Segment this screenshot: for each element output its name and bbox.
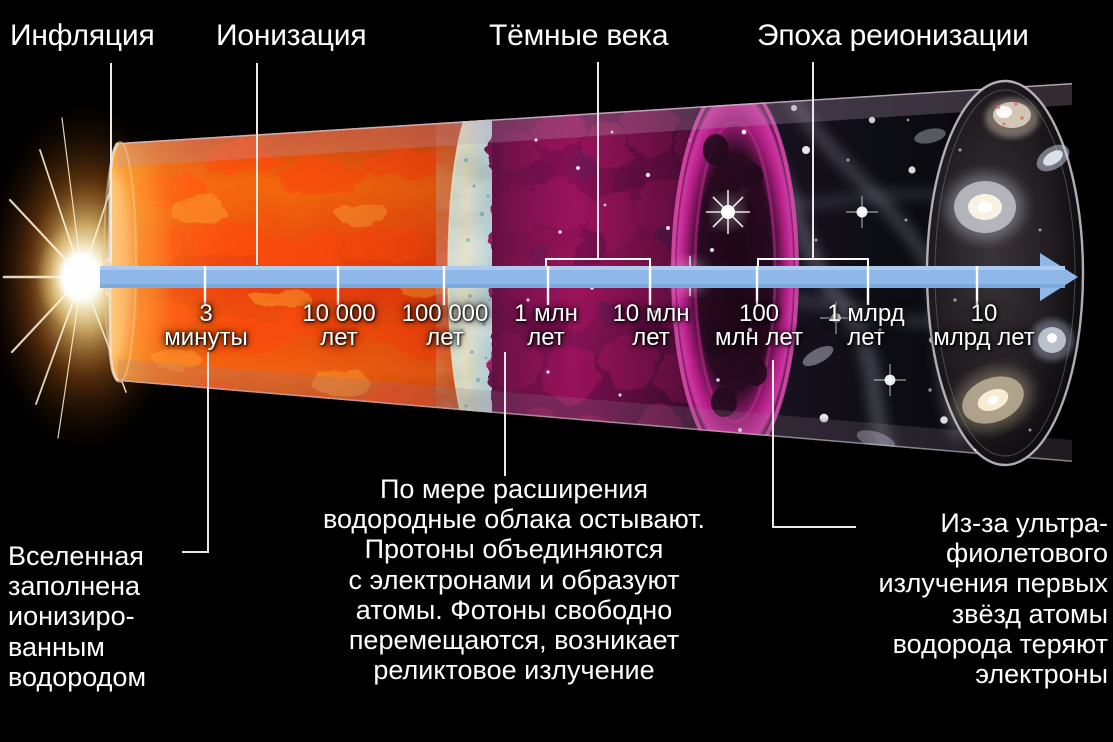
tick-10-billion-years: 10 млрд лет	[920, 302, 1048, 351]
tick-10-million-years: 10 млн лет	[594, 302, 708, 351]
cosmic-timeline-infographic: Инфляция Ионизация Тёмные века Эпоха реи…	[0, 0, 1113, 742]
tick-1-billion-years: 1 млрд лет	[808, 302, 924, 351]
timeline-axis	[0, 0, 1113, 742]
tick-100-million-years: 100 млн лет	[700, 302, 818, 351]
timeline-arrow	[100, 253, 1078, 301]
tick-3-minutes: 3 минуты	[150, 302, 262, 351]
tick-100000-years: 100 000 лет	[382, 302, 508, 351]
tick-1-million-years: 1 млн лет	[494, 302, 598, 351]
